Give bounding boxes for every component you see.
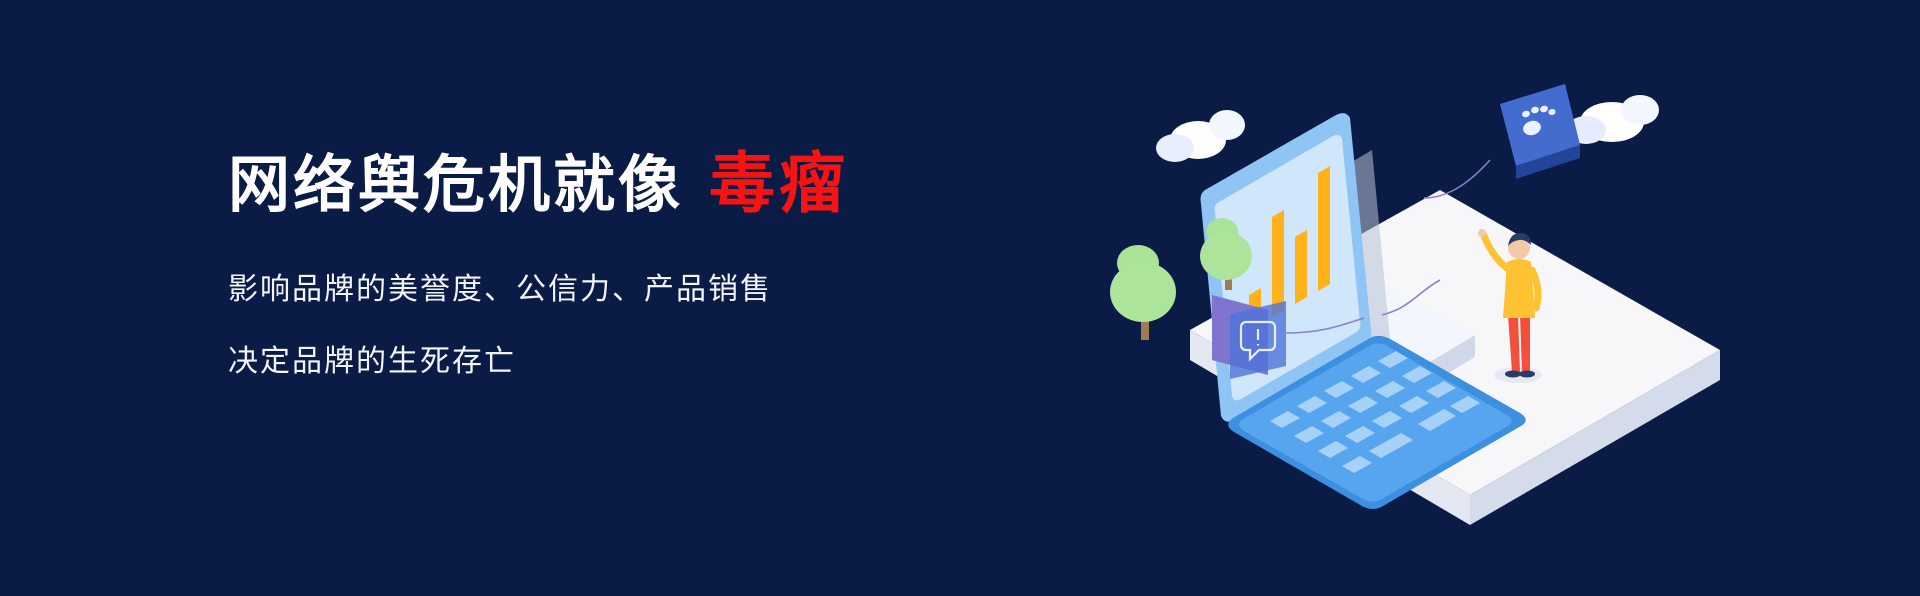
cloud-2 [1566, 95, 1659, 144]
hero-copy: 网络舆危机就像毒瘤 影响品牌的美誉度、公信力、产品销售 决定品牌的生死存亡 [228, 150, 1008, 377]
chart-bar-3 [1295, 230, 1307, 304]
paw-print-card [1500, 84, 1580, 179]
hero-banner: 网络舆危机就像毒瘤 影响品牌的美誉度、公信力、产品销售 决定品牌的生死存亡 [0, 0, 1920, 596]
cloud-1 [1156, 110, 1245, 162]
headline-white-text: 网络舆危机就像 [228, 151, 683, 220]
person-shoe-left [1505, 371, 1521, 378]
chart-bar-4 [1318, 166, 1330, 291]
cloud-1-puff-top [1209, 110, 1245, 140]
wire-right [1424, 160, 1490, 198]
headline-highlight-text: 毒瘤 [709, 146, 849, 220]
tree-2-foliage-bottom [1200, 232, 1252, 280]
cloud-2-puff-top [1621, 95, 1659, 125]
tree-1 [1110, 244, 1189, 340]
hero-illustration [1020, 30, 1720, 570]
cloud-1-puff-left [1156, 134, 1194, 162]
subtitle-line-2: 决定品牌的生死存亡 [228, 347, 1008, 377]
chart-bar-2 [1272, 210, 1284, 317]
person-shoe-right [1519, 371, 1535, 378]
person-hand [1478, 229, 1486, 237]
tree-1-foliage-bottom [1110, 262, 1176, 322]
page-title: 网络舆危机就像毒瘤 [228, 150, 1008, 217]
subtitle-line-1: 影响品牌的美誉度、公信力、产品销售 [228, 275, 1008, 305]
